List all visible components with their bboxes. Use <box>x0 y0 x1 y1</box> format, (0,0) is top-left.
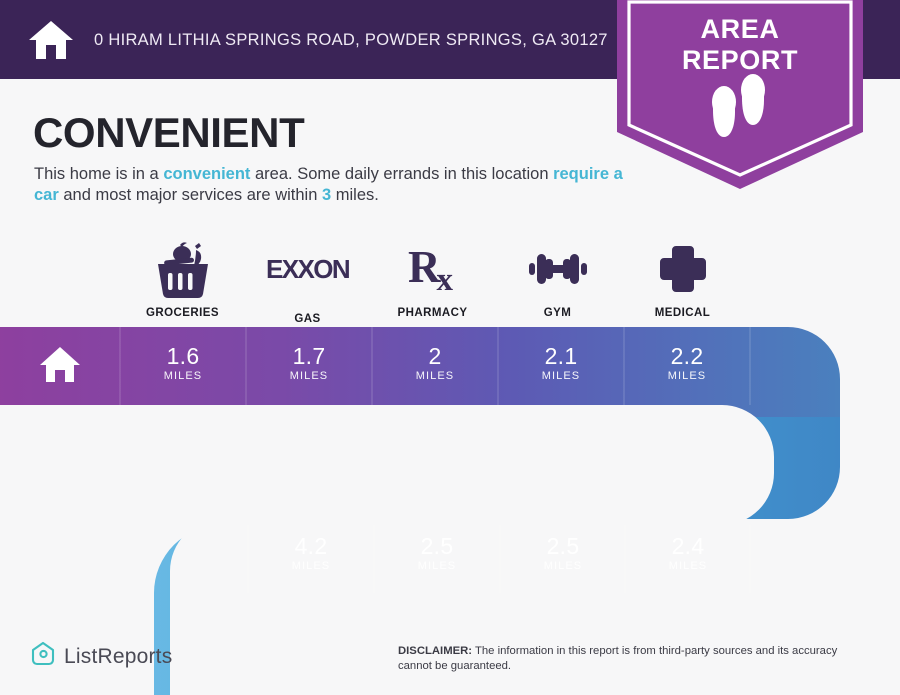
distance-atm: 2.4 MILES <box>625 534 751 572</box>
listreports-logo[interactable]: ListReports <box>30 641 172 672</box>
category-label: MEDICAL <box>620 307 745 319</box>
home-icon <box>26 15 76 65</box>
area-report-infographic: 0 HIRAM LITHIA SPRINGS ROAD, POWDER SPRI… <box>0 0 900 695</box>
distance-cleaners: 2.5 MILES <box>374 534 500 572</box>
hero-description: This home is in a convenient area. Some … <box>34 164 644 206</box>
disclaimer-label: DISCLAIMER: <box>398 645 472 657</box>
rx-prescription-icon: Rx <box>408 245 457 294</box>
category-label: PHARMACY <box>370 307 495 319</box>
distance-gas: 1.7 MILES <box>246 344 372 382</box>
category-pharmacy: Rx PHARMACY <box>370 240 495 325</box>
area-report-badge: AREA REPORT <box>617 0 863 189</box>
category-gym: GYM <box>495 240 620 325</box>
distance-pharmacy: 2 MILES <box>372 344 498 382</box>
badge-line-1: AREA <box>617 14 863 45</box>
hero-text-3: and most major services are within <box>59 186 322 204</box>
distance-groceries: 1.6 MILES <box>120 344 246 382</box>
hero-text-1: This home is in a <box>34 165 163 183</box>
disclaimer: DISCLAIMER: The information in this repo… <box>398 644 854 673</box>
exxon-logo-icon: EXXON <box>266 254 349 285</box>
category-medical: MEDICAL <box>620 240 745 325</box>
grocery-basket-icon <box>152 242 214 298</box>
hero-text-2: area. Some daily errands in this locatio… <box>250 165 553 183</box>
home-origin-icon <box>38 344 82 391</box>
listreports-house-icon <box>30 641 56 672</box>
hero-highlight-convenient: convenient <box>163 165 250 183</box>
badge-line-2: REPORT <box>617 45 863 76</box>
distance-ribbon: 1.6 MILES 1.7 MILES 2 MILES 2.1 MILES 2.… <box>0 325 900 695</box>
hero-text-4: miles. <box>331 186 379 204</box>
distance-medical: 2.2 MILES <box>624 344 750 382</box>
category-groceries: GROCERIES <box>120 240 245 325</box>
listreports-wordmark: ListReports <box>64 645 172 669</box>
distance-gym: 2.1 MILES <box>498 344 624 382</box>
category-label: GAS <box>245 313 370 325</box>
distance-movie-theater: 4.2 MILES <box>248 534 374 572</box>
medical-cross-icon <box>657 243 709 295</box>
property-address: 0 HIRAM LITHIA SPRINGS ROAD, POWDER SPRI… <box>94 29 608 51</box>
distance-coffee: 2.5 MILES <box>500 534 626 572</box>
icon-row-primary: GROCERIES EXXON GAS Rx PHARMACY <box>0 240 900 325</box>
dumbbell-icon <box>525 248 591 290</box>
badge-title: AREA REPORT <box>617 14 863 76</box>
page-title: CONVENIENT <box>33 109 304 157</box>
category-label: GYM <box>495 307 620 319</box>
category-gas: EXXON GAS <box>245 240 370 325</box>
category-label: GROCERIES <box>120 307 245 319</box>
hero-highlight-miles: 3 <box>322 186 331 204</box>
